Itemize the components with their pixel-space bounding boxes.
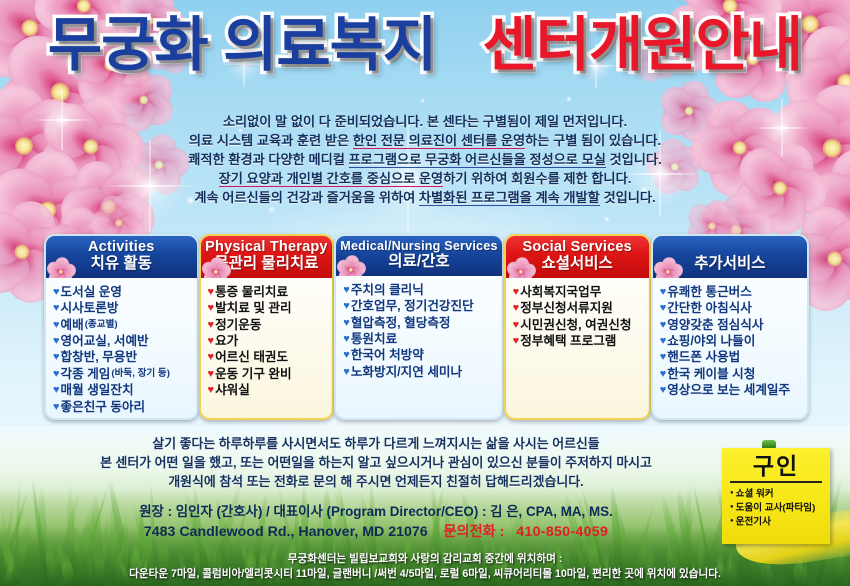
hiring-title: 구인	[722, 448, 830, 478]
service-card-title-en: Social Services	[510, 240, 645, 255]
hibiscus-flower-icon	[654, 258, 681, 278]
heart-bullet-icon: ♥	[660, 366, 667, 382]
service-item: ♥사회복지국업무	[513, 284, 645, 300]
service-item-label: 정기운동	[215, 317, 261, 333]
service-item: ♥주치의 클리닉	[343, 282, 497, 298]
service-item-label: 좋은친구 동아리	[61, 399, 146, 415]
footer-line-1: 무궁화센터는 빌립보교회와 사랑의 감리교회 중간에 위치하며 :	[0, 552, 850, 567]
service-item: ♥간단한 아침식사	[660, 300, 803, 316]
hibiscus-flower-icon	[339, 258, 365, 276]
service-card-body: ♥통증 물리치료♥발치료 및 관리♥정기운동♥요가♥어르신 태권도♥운동 기구 …	[201, 278, 333, 403]
heart-bullet-icon: ♥	[208, 300, 215, 316]
contact-block: 원장 : 임인자 (간호사) / 대표이사 (Program Director/…	[26, 502, 726, 542]
service-item-label: 쇼핑/야외 나들이	[667, 333, 755, 349]
service-card-2[interactable]: Physical Therapy몸관리 물리치료♥통증 물리치료♥발치료 및 관…	[199, 234, 335, 420]
heart-bullet-icon: ♥	[208, 349, 215, 365]
sparkle-icon	[420, 98, 425, 103]
service-item: ♥쇼핑/야외 나들이	[660, 333, 803, 349]
intro-line-2-highlight: 한인 전문 의료진이 센터를 운영	[353, 133, 525, 149]
service-item: ♥영어교실, 서예반	[53, 333, 193, 349]
heart-bullet-icon: ♥	[660, 382, 667, 398]
sparkle-icon	[566, 96, 572, 102]
service-item: ♥영양갖춘 점심식사	[660, 317, 803, 333]
hiring-divider	[730, 481, 822, 483]
heart-bullet-icon: ♥	[53, 349, 60, 365]
service-item-label: 사회복지국업무	[520, 284, 601, 300]
service-item-label: 핸드폰 사용법	[667, 349, 740, 365]
service-item: ♥핸드폰 사용법	[660, 349, 803, 365]
service-card-title-en: Physical Therapy	[205, 240, 329, 255]
heart-bullet-icon: ♥	[343, 315, 350, 331]
service-card-header: Physical Therapy몸관리 물리치료	[201, 236, 333, 278]
intro-line-2: 의료 시스템 교육과 훈련 받은 한인 전문 의료진이 센터를 운영하는 구별 …	[50, 131, 800, 150]
service-item-label: 매월 생일잔치	[61, 382, 134, 398]
contact-director-line: 원장 : 임인자 (간호사) / 대표이사 (Program Director/…	[26, 502, 726, 522]
service-item: ♥도서실 운영	[53, 284, 193, 300]
poster-title: 무궁화 의료복지 센터개원안내	[0, 16, 850, 75]
heart-bullet-icon: ♥	[208, 366, 215, 382]
hiring-list-item: 운전기사	[730, 515, 827, 529]
service-item: ♥발치료 및 관리	[208, 300, 329, 316]
intro-paragraph: 소리없이 말 없이 다 준비되었습니다. 본 센타는 구별됨이 제일 먼저입니다…	[50, 112, 800, 207]
service-card-header: Social Services쇼셜서비스	[506, 236, 649, 278]
service-item: ♥간호업무, 정기건강진단	[343, 298, 497, 314]
service-item: ♥영상으로 보는 세계일주	[660, 382, 803, 398]
service-item-label: 영상으로 보는 세계일주	[667, 382, 790, 398]
service-card-3[interactable]: Medical/Nursing Services의료/간호♥주치의 클리닉♥간호…	[334, 234, 503, 420]
service-item: ♥좋은친구 동아리	[53, 399, 193, 415]
service-card-header: Activities치유 활동	[46, 236, 197, 278]
hibiscus-flower-icon	[509, 260, 535, 278]
title-red-part: 센터개원안내	[482, 16, 802, 75]
contact-address: 7483 Candlewood Rd., Hanover, MD 21076	[144, 524, 428, 540]
service-item-label: 시민권신청, 여권신청	[520, 317, 631, 333]
heart-bullet-icon: ♥	[343, 331, 350, 347]
service-card-header: 추가서비스	[653, 236, 807, 278]
service-item: ♥통증 물리치료	[208, 284, 329, 300]
heart-bullet-icon: ♥	[343, 282, 350, 298]
service-card-4[interactable]: Social Services쇼셜서비스♥사회복지국업무♥정부신청서류지원♥시민…	[504, 234, 651, 420]
phone-label: 문의전화 :	[443, 524, 504, 540]
service-item-label: 정부혜택 프로그램	[520, 333, 616, 349]
heart-bullet-icon: ♥	[53, 300, 60, 316]
service-cards-row: Activities치유 활동♥도서실 운영♥시사토론방♥예배 (종교별)♥영어…	[44, 234, 809, 416]
service-item: ♥통원치료	[343, 331, 497, 347]
service-item-label: 주치의 클리닉	[351, 282, 424, 298]
service-item: ♥어르신 태권도	[208, 349, 329, 365]
intro-line-4-b: 하기 위하여 회원수를 제한 합니다.	[443, 171, 631, 186]
footer-line-2: 다운타운 7마일, 콜럼비아/엘리콧시티 11마일, 글랜버니 /써번 4/5마…	[0, 567, 850, 582]
heart-bullet-icon: ♥	[53, 317, 60, 333]
service-item: ♥한국 케이블 시청	[660, 366, 803, 382]
service-item-label: 영어교실, 서예반	[61, 333, 149, 349]
service-item: ♥정기운동	[208, 317, 329, 333]
bottom-line-3: 개원식에 참석 또는 전화로 문의 해 주시면 언제든지 친절히 답해드리겠습니…	[26, 472, 726, 491]
service-item: ♥노화방지/지연 세미나	[343, 364, 497, 380]
service-card-title-en: Medical/Nursing Services	[340, 240, 497, 253]
service-card-title-en: Activities	[50, 240, 193, 255]
service-item-label: 간단한 아침식사	[667, 300, 752, 316]
heart-bullet-icon: ♥	[513, 300, 520, 316]
heart-bullet-icon: ♥	[513, 333, 520, 349]
heart-bullet-icon: ♥	[660, 349, 667, 365]
hibiscus-flower-icon	[507, 258, 534, 278]
service-item: ♥합창반, 무용반	[53, 349, 193, 365]
service-item-label: 도서실 운영	[61, 284, 122, 300]
intro-line-2-a: 의료 시스템 교육과 훈련 받은	[189, 133, 353, 148]
service-item-label: 한국 케이블 시청	[667, 366, 755, 382]
service-item-label: 발치료 및 관리	[215, 300, 292, 316]
heart-bullet-icon: ♥	[208, 317, 215, 333]
service-card-body: ♥도서실 운영♥시사토론방♥예배 (종교별)♥영어교실, 서예반♥합창반, 무용…	[46, 278, 197, 419]
hiring-list-item: 쇼셜 워커	[730, 487, 827, 501]
service-item: ♥정부신청서류지원	[513, 300, 645, 316]
heart-bullet-icon: ♥	[660, 284, 667, 300]
service-item: ♥시민권신청, 여권신청	[513, 317, 645, 333]
heart-bullet-icon: ♥	[208, 284, 215, 300]
service-item-label: 노화방지/지연 세미나	[351, 364, 462, 380]
intro-line-3-highlight: 프로그램으로 무궁화 어르신들을 정성으로 모실	[349, 152, 606, 168]
intro-line-3: 쾌적한 환경과 다양한 메디컬 프로그램으로 무궁화 어르신들을 정성으로 모실…	[50, 150, 800, 169]
service-card-1[interactable]: Activities치유 활동♥도서실 운영♥시사토론방♥예배 (종교별)♥영어…	[44, 234, 199, 420]
service-item-label: 합창반, 무용반	[61, 349, 138, 365]
intro-line-4: 장기 요양과 개인별 간호를 중심으로 운영하기 위하여 회원수를 제한 합니다…	[50, 169, 800, 188]
heart-bullet-icon: ♥	[53, 382, 60, 398]
heart-bullet-icon: ♥	[53, 284, 60, 300]
title-blue-part: 무궁화 의료복지	[48, 16, 436, 75]
service-item: ♥혈압측정, 혈당측정	[343, 315, 497, 331]
service-item-label: 통원치료	[351, 331, 397, 347]
service-item: ♥운동 기구 완비	[208, 366, 329, 382]
hibiscus-flower-icon	[202, 258, 229, 278]
intro-line-2-c: 하는 구별 됨이 있습니다.	[525, 133, 661, 148]
service-item-label: 한국어 처방약	[351, 347, 424, 363]
service-item: ♥샤워실	[208, 382, 329, 398]
intro-line-5-highlight: 차별화된 프로그램을 계속 개발할	[419, 190, 600, 206]
service-item: ♥시사토론방	[53, 300, 193, 316]
heart-bullet-icon: ♥	[343, 347, 350, 363]
service-card-title-spacer	[657, 240, 803, 255]
service-item-label: 각종 게임	[61, 366, 111, 382]
heart-bullet-icon: ♥	[343, 298, 350, 314]
service-item: ♥각종 게임 (바둑, 장기 등)	[53, 366, 193, 382]
service-card-header: Medical/Nursing Services의료/간호	[336, 236, 501, 276]
bottom-paragraph: 살기 좋다는 하루하루를 사시면서도 하루가 다르게 느껴지시는 삶을 사시는 …	[26, 434, 726, 491]
service-item-label: 혈압측정, 혈당측정	[351, 315, 451, 331]
service-item-note: (종교별)	[85, 317, 118, 333]
service-item-label: 영양갖춘 점심식사	[667, 317, 763, 333]
service-item: ♥유쾌한 통근버스	[660, 284, 803, 300]
intro-line-5-c: 것입니다.	[600, 190, 656, 205]
heart-bullet-icon: ♥	[660, 317, 667, 333]
service-item: ♥한국어 처방약	[343, 347, 497, 363]
hibiscus-flower-icon	[204, 260, 230, 278]
sparkle-icon	[268, 206, 275, 213]
service-item-label: 유쾌한 통근버스	[667, 284, 752, 300]
heart-bullet-icon: ♥	[53, 366, 60, 382]
heart-bullet-icon: ♥	[660, 300, 667, 316]
service-item-label: 요가	[215, 333, 238, 349]
heart-bullet-icon: ♥	[208, 333, 215, 349]
intro-line-3-a: 쾌적한 환경과 다양한 메디컬	[188, 152, 348, 167]
phone-number[interactable]: 410-850-4059	[516, 524, 608, 540]
service-item: ♥요가	[208, 333, 329, 349]
poster-canvas: 무궁화 의료복지 센터개원안내 소리없이 말 없이 다 준비되었습니다. 본 센…	[0, 0, 850, 586]
heart-bullet-icon: ♥	[513, 317, 520, 333]
intro-line-5-a: 계속 어르신들의 건강과 즐거움을 위하여	[194, 190, 419, 205]
intro-line-5: 계속 어르신들의 건강과 즐거움을 위하여 차별화된 프로그램을 계속 개발할 …	[50, 188, 800, 207]
service-item: ♥정부혜택 프로그램	[513, 333, 645, 349]
hiring-list-item: 도움이 교사(파타임)	[730, 501, 827, 515]
hiring-list: 쇼셜 워커도움이 교사(파타임)운전기사	[722, 487, 830, 528]
service-item-label: 어르신 태권도	[215, 349, 288, 365]
service-item-label: 간호업무, 정기건강진단	[351, 298, 474, 314]
service-item-label: 통증 물리치료	[215, 284, 288, 300]
service-item-label: 정부신청서류지원	[520, 300, 613, 316]
service-item-label: 샤워실	[215, 382, 250, 398]
heart-bullet-icon: ♥	[53, 399, 60, 415]
contact-address-line: 7483 Candlewood Rd., Hanover, MD 21076 문…	[26, 522, 726, 542]
intro-line-3-c: 것입니다.	[606, 152, 662, 167]
intro-line-1: 소리없이 말 없이 다 준비되었습니다. 본 센타는 구별됨이 제일 먼저입니다…	[50, 112, 800, 131]
heart-bullet-icon: ♥	[343, 364, 350, 380]
heart-bullet-icon: ♥	[53, 333, 60, 349]
hibiscus-flower-icon	[49, 260, 75, 278]
service-item-note: (바둑, 장기 등)	[111, 366, 170, 382]
hiring-notice-box[interactable]: 구인 쇼셜 워커도움이 교사(파타임)운전기사	[722, 448, 830, 544]
footer-location-note: 무궁화센터는 빌립보교회와 사랑의 감리교회 중간에 위치하며 : 다운타운 7…	[0, 552, 850, 582]
bottom-line-1: 살기 좋다는 하루하루를 사시면서도 하루가 다르게 느껴지시는 삶을 사시는 …	[26, 434, 726, 453]
service-item-label: 예배	[61, 317, 84, 333]
heart-bullet-icon: ♥	[513, 284, 520, 300]
service-item-label: 시사토론방	[61, 300, 119, 316]
service-card-body: ♥사회복지국업무♥정부신청서류지원♥시민권신청, 여권신청♥정부혜택 프로그램	[506, 278, 649, 354]
heart-bullet-icon: ♥	[660, 333, 667, 349]
intro-line-4-highlight: 장기 요양과 개인별 간호를 중심으로 운영	[219, 171, 444, 187]
service-card-body: ♥유쾌한 통근버스♥간단한 아침식사♥영양갖춘 점심식사♥쇼핑/야외 나들이♥핸…	[653, 278, 807, 403]
service-item: ♥매월 생일잔치	[53, 382, 193, 398]
hibiscus-flower-icon	[338, 256, 365, 276]
service-item: ♥예배 (종교별)	[53, 317, 193, 333]
bottom-line-2: 본 센터가 어떤 일을 했고, 또는 어떤일을 하는지 알고 싶으시거나 관심이…	[26, 453, 726, 472]
service-item-label: 운동 기구 완비	[215, 366, 292, 382]
hibiscus-flower-icon	[47, 258, 74, 278]
service-card-body: ♥주치의 클리닉♥간호업무, 정기건강진단♥혈압측정, 혈당측정♥통원치료♥한국…	[336, 276, 501, 384]
heart-bullet-icon: ♥	[208, 382, 215, 398]
sparkle-icon	[604, 216, 610, 222]
hibiscus-flower-icon	[656, 260, 682, 278]
service-card-5[interactable]: 추가서비스♥유쾌한 통근버스♥간단한 아침식사♥영양갖춘 점심식사♥쇼핑/야외 …	[651, 234, 809, 420]
